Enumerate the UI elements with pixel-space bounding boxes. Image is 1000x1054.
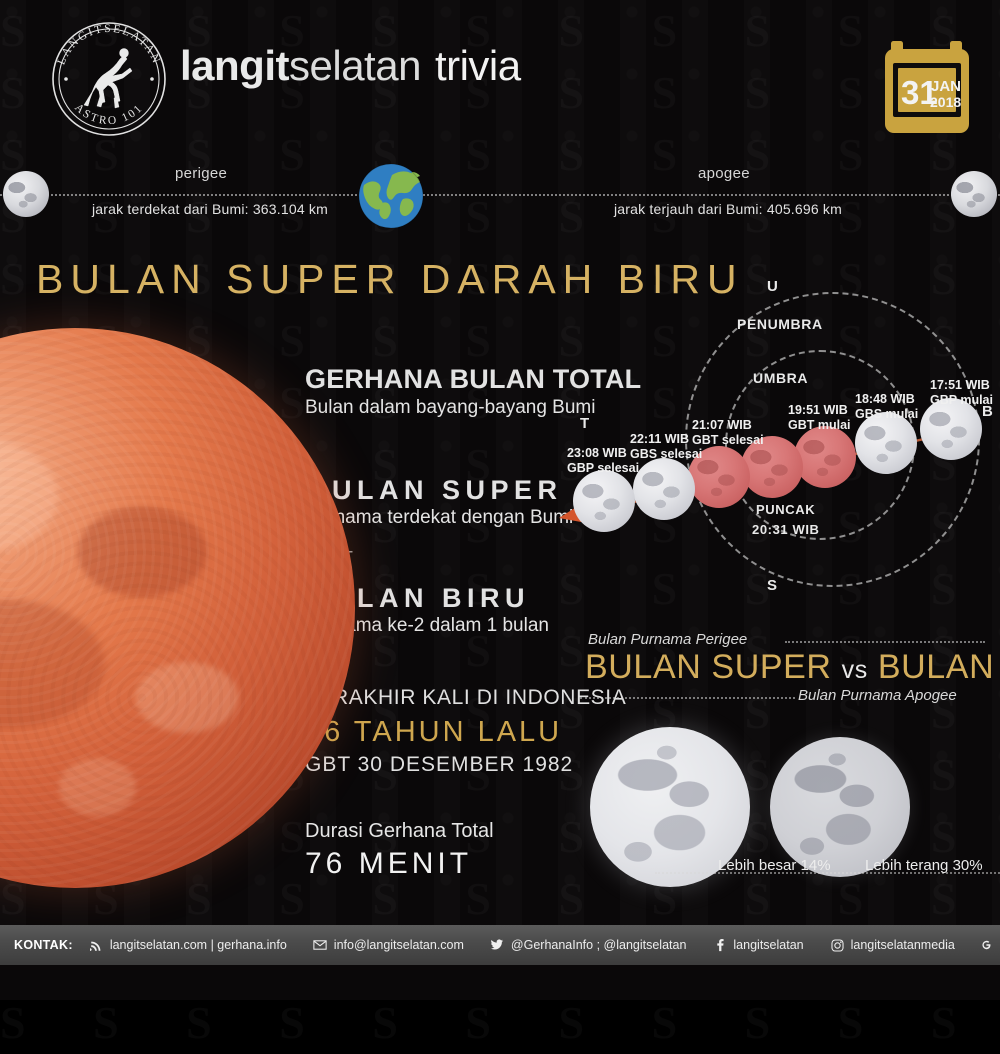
svg-text:2018: 2018 [930,94,961,110]
phase-time: 21:07 WIB [692,418,764,433]
earth-globe-icon [358,163,424,229]
contact-email-text: info@langitselatan.com [334,938,464,952]
orbit-dotted-line [0,194,1000,196]
comparison-title: BULAN SUPER vs BULAN MINI [585,648,1000,687]
moon-icon-apogee [951,171,997,217]
langitselatan-logo-seal: LANGITSELATAN ASTRO 101 [48,18,170,140]
contact-twitter[interactable]: @GerhanaInfo ; @langitselatan [490,938,686,953]
phase-label-gbp-mulai: 17:51 WIB GBP mulai [930,378,993,408]
phase-label-gbt-selesai: 21:07 WIB GBT selesai [692,418,764,448]
comparison-title-vs: vs [842,656,868,684]
instagram-icon [830,938,845,953]
phase-event: GBP mulai [930,393,993,408]
footer-backdrop [0,965,1000,1000]
facebook-icon [712,938,727,953]
umbra-label: UMBRA [753,370,808,386]
comparison-dash-top [785,641,985,643]
phase-label-gbp-selesai: 23:08 WIB GBP selesai [567,446,639,476]
phase-time: 18:48 WIB [855,392,918,407]
eclipse-path-diagram: U S T B PENUMBRA UMBRA PUNCAK 20:31 WIB … [545,270,1000,610]
svg-text:JAN: JAN [931,78,961,95]
phase-moon-gbs-selesai [633,458,695,520]
comparison-dash-bottom [580,697,795,699]
contact-label: KONTAK: [14,938,73,952]
fact-sub-supermoon: Purnama terdekat dengan Bumi [305,507,573,529]
orbit-distance-band [0,150,1000,245]
penumbra-label: PENUMBRA [737,316,823,332]
brand-light: selatan [289,42,421,89]
phase-label-gbs-mulai: 18:48 WIB GBS mulai [855,392,918,422]
phase-event: GBP selesai [567,461,639,476]
svg-text:LANGITSELATAN: LANGITSELATAN [55,23,162,67]
watermark-row: S S S S S S S S S S S S S S S S S S S S … [0,992,1000,1054]
brand-bold: langit [180,42,289,89]
brand-title: langitselatantrivia [180,42,521,90]
phase-event: GBT selesai [692,433,764,448]
phase-time: 17:51 WIB [930,378,993,393]
phase-time: 23:08 WIB [567,446,639,461]
supermoon-vs-minimoon-section: Bulan Purnama Perigee BULAN SUPER vs BUL… [570,625,1000,900]
cardinal-north-label: U [767,278,778,295]
svg-text:ASTRO 101: ASTRO 101 [72,102,146,128]
duration-value: 76 MENIT [305,847,472,881]
page-title: BULAN SUPER DARAH BIRU [36,256,744,303]
phase-time: 22:11 WIB [630,432,702,447]
envelope-icon [313,938,328,953]
phase-moon-gbp-selesai [573,470,635,532]
minimoon-disc [770,737,910,877]
calendar-icon: 31 JAN 2018 [884,33,970,137]
moon-icon-perigee [3,171,49,217]
phase-moon-gbt-mulai [794,426,856,488]
phase-event: GBT mulai [788,418,851,433]
phase-event: GBS mulai [855,407,918,422]
brand-suffix: trivia [435,42,521,89]
contact-googleplus[interactable]: +LangitselatanMedia [981,938,1000,953]
phase-label-gbs-selesai: 22:11 WIB GBS selesai [630,432,702,462]
contact-website-text: langitselatan.com | gerhana.info [110,938,287,952]
contact-instagram[interactable]: langitselatanmedia [830,938,955,953]
fact-heading-supermoon: BULAN SUPER [307,475,563,506]
comparison-title-second: BULAN MINI [878,648,1000,686]
cardinal-east-label: T [580,415,590,432]
googleplus-icon [981,938,996,953]
comparison-note-bright: Lebih terang 30% [865,857,983,874]
contact-website[interactable]: langitselatan.com | gerhana.info [89,938,287,953]
contact-instagram-text: langitselatanmedia [851,938,955,952]
last-occurrence-date: GBT 30 DESEMBER 1982 [305,753,573,777]
contact-facebook[interactable]: langitselatan [712,938,803,953]
peak-label: PUNCAK [756,502,815,517]
comparison-title-main: BULAN SUPER [585,648,832,686]
contact-facebook-text: langitselatan [733,938,803,952]
phase-event: GBS selesai [630,447,702,462]
contact-footer: KONTAK: langitselatan.com | gerhana.info… [0,925,1000,965]
peak-time: 20:31 WIB [752,522,820,537]
comparison-perigee-caption: Bulan Purnama Perigee [588,631,747,648]
comparison-apogee-caption: Bulan Purnama Apogee [798,687,957,704]
cardinal-south-label: S [767,577,778,594]
duration-label: Durasi Gerhana Total [305,820,494,843]
comparison-note-size: Lebih besar 14% [718,857,831,874]
header: LANGITSELATAN ASTRO 101 langitselatantri… [0,0,1000,150]
phase-label-gbt-mulai: 19:51 WIB GBT mulai [788,403,851,433]
rss-icon [89,938,104,953]
contact-twitter-text: @GerhanaInfo ; @langitselatan [511,938,686,952]
phase-time: 19:51 WIB [788,403,851,418]
twitter-icon [490,938,505,953]
seal-icon: LANGITSELATAN ASTRO 101 [48,18,170,140]
contact-email[interactable]: info@langitselatan.com [313,938,464,953]
last-occurrence-years: 36 TAHUN LALU [305,716,562,749]
